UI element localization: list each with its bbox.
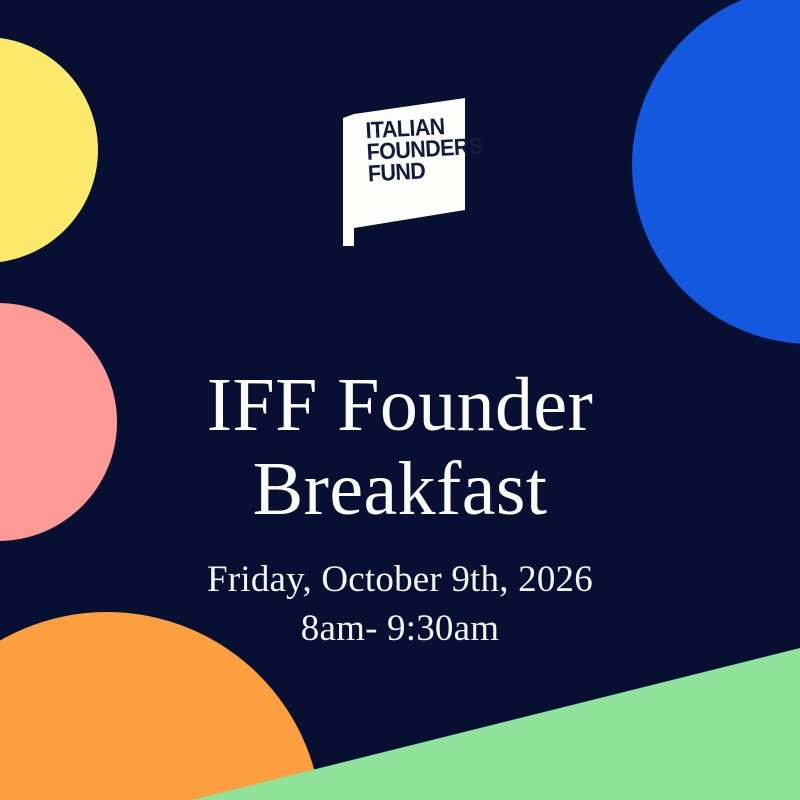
logo-wordmark: ITALIAN FOUNDERS FUND (365, 115, 468, 185)
event-date-time: Friday, October 9th, 2026 8am- 9:30am (0, 556, 800, 654)
italian-founders-fund-flag-icon: ITALIAN FOUNDERS FUND (329, 98, 471, 246)
event-poster: ITALIAN FOUNDERS FUND IFF Founder Breakf… (0, 0, 800, 800)
title-line-2: Breakfast (0, 447, 800, 531)
event-time: 8am- 9:30am (0, 605, 800, 654)
logo-container: ITALIAN FOUNDERS FUND (0, 98, 800, 246)
event-date: Friday, October 9th, 2026 (0, 556, 800, 605)
page-title: IFF Founder Breakfast (0, 363, 800, 532)
title-line-1: IFF Founder (0, 363, 800, 447)
